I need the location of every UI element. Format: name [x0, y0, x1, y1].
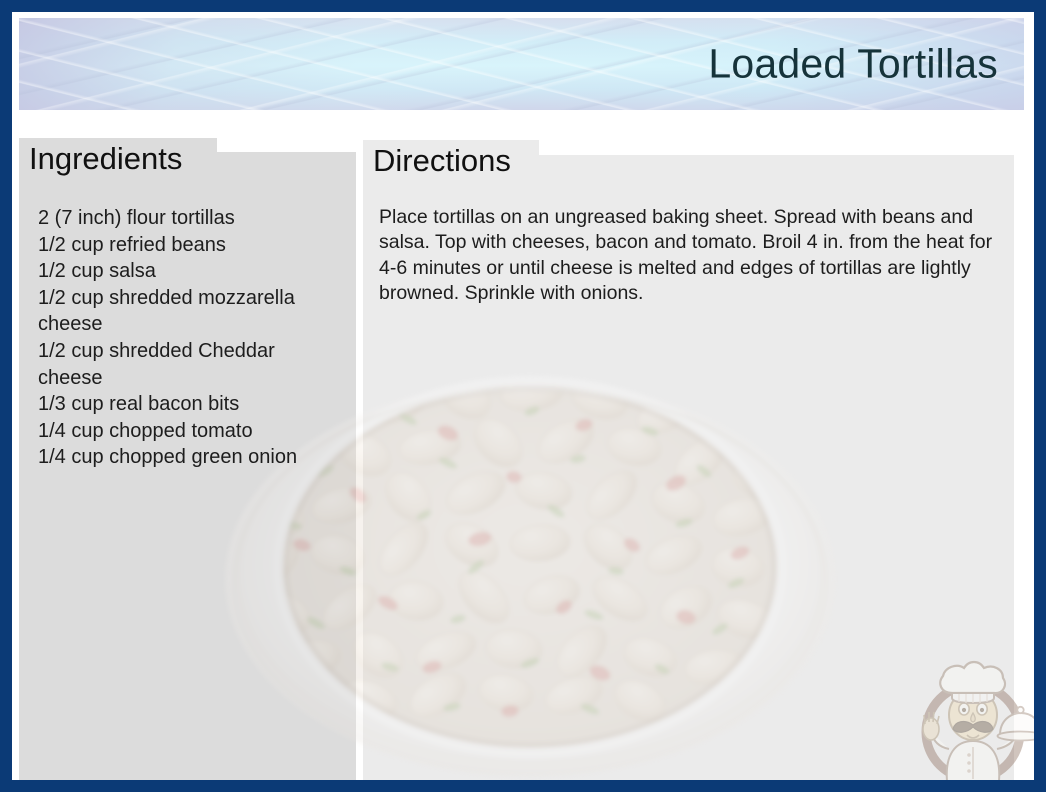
header-banner: Loaded Tortillas	[19, 18, 1024, 110]
ingredient-item: 1/4 cup chopped green onion	[38, 444, 338, 471]
ingredient-item: 1/4 cup chopped tomato	[38, 418, 338, 445]
ingredient-item: 1/3 cup real bacon bits	[38, 391, 338, 418]
ingredient-item: 1/2 cup shredded Cheddar cheese	[38, 338, 338, 391]
ingredient-item: 1/2 cup refried beans	[38, 232, 338, 259]
ingredient-item: 2 (7 inch) flour tortillas	[38, 205, 338, 232]
ingredients-list: 2 (7 inch) flour tortillas 1/2 cup refri…	[38, 205, 338, 471]
ingredient-item: 1/2 cup salsa	[38, 258, 338, 285]
slide-page: Loaded Tortillas Ingredients Directions	[12, 12, 1034, 780]
directions-body-text: Place tortillas on an ungreased baking s…	[379, 205, 1004, 307]
page-title: Loaded Tortillas	[708, 44, 998, 85]
ingredients-heading: Ingredients	[19, 138, 217, 180]
directions-heading: Directions	[363, 140, 539, 183]
recipe-slide: Loaded Tortillas Ingredients Directions	[0, 0, 1046, 792]
ingredient-item: 1/2 cup shredded mozzarella cheese	[38, 285, 338, 338]
